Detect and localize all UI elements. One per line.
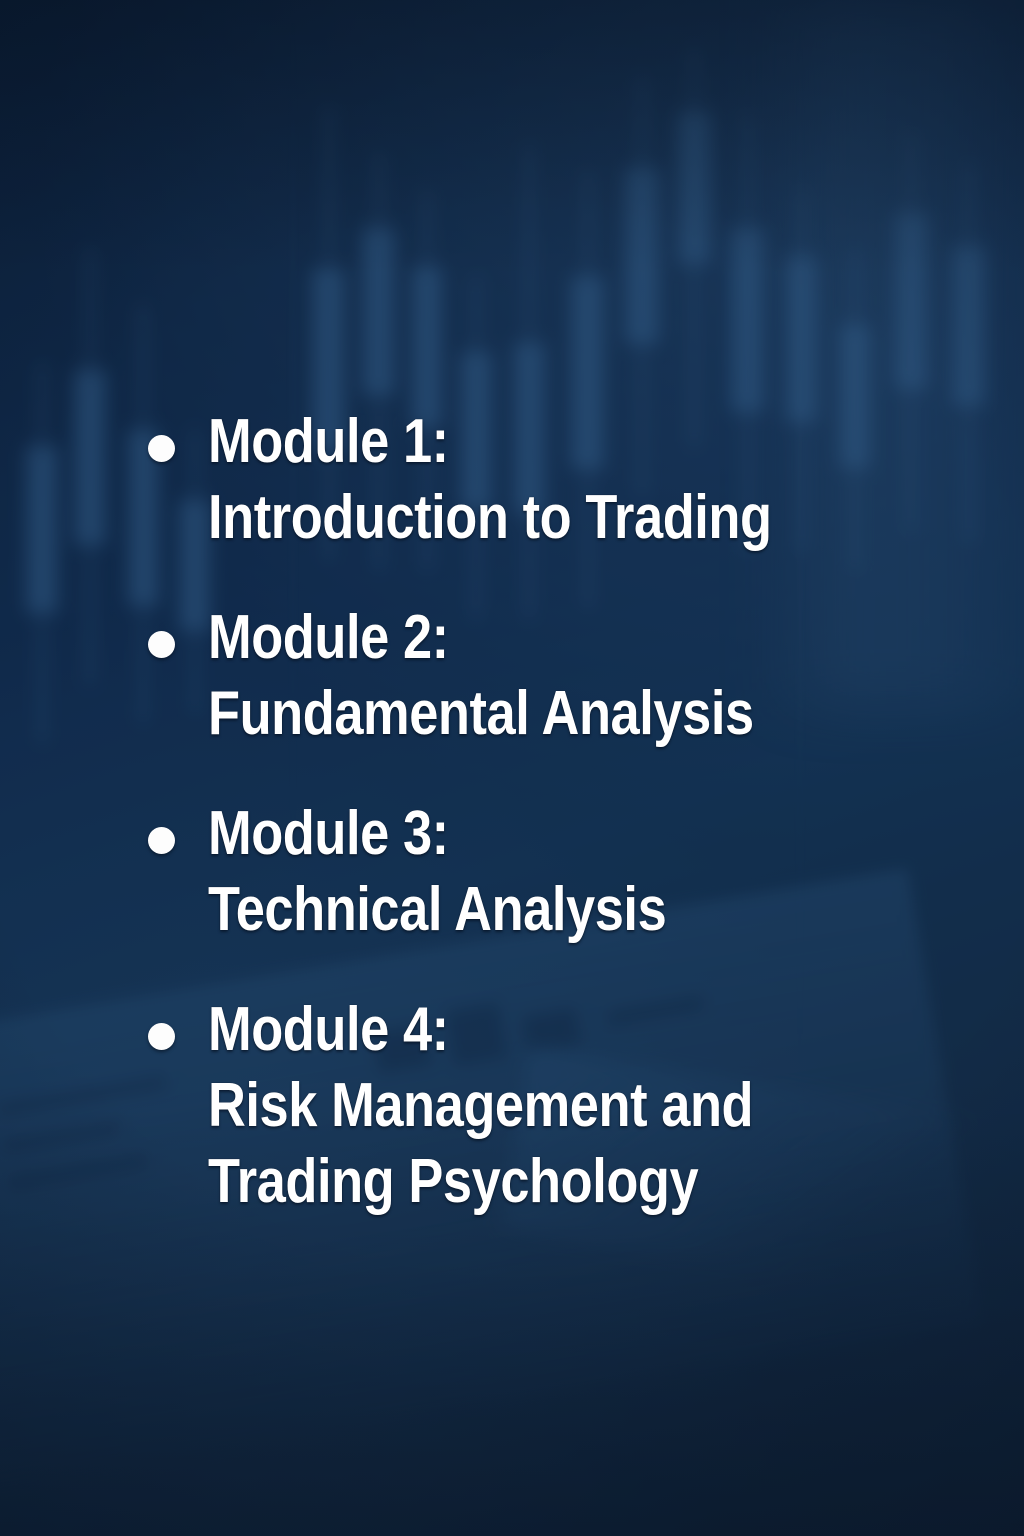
slide-content: Module 1: Introduction to Trading Module…: [0, 0, 1024, 1536]
bullet-icon: [148, 631, 175, 658]
list-item: Module 3: Technical Analysis: [148, 796, 948, 948]
module-list: Module 1: Introduction to Trading Module…: [148, 404, 948, 1220]
list-item: Module 1: Introduction to Trading: [148, 404, 948, 556]
bullet-icon: [148, 1023, 175, 1050]
list-item: Module 4: Risk Management and Trading Ps…: [148, 992, 948, 1220]
module-label: Module 1: Introduction to Trading: [208, 404, 833, 556]
module-label: Module 2: Fundamental Analysis: [208, 600, 833, 752]
bullet-icon: [148, 827, 175, 854]
course-modules-slide: Module 1: Introduction to Trading Module…: [0, 0, 1024, 1536]
list-item: Module 2: Fundamental Analysis: [148, 600, 948, 752]
module-label: Module 4: Risk Management and Trading Ps…: [208, 992, 833, 1220]
bullet-icon: [148, 435, 175, 462]
module-label: Module 3: Technical Analysis: [208, 796, 833, 948]
